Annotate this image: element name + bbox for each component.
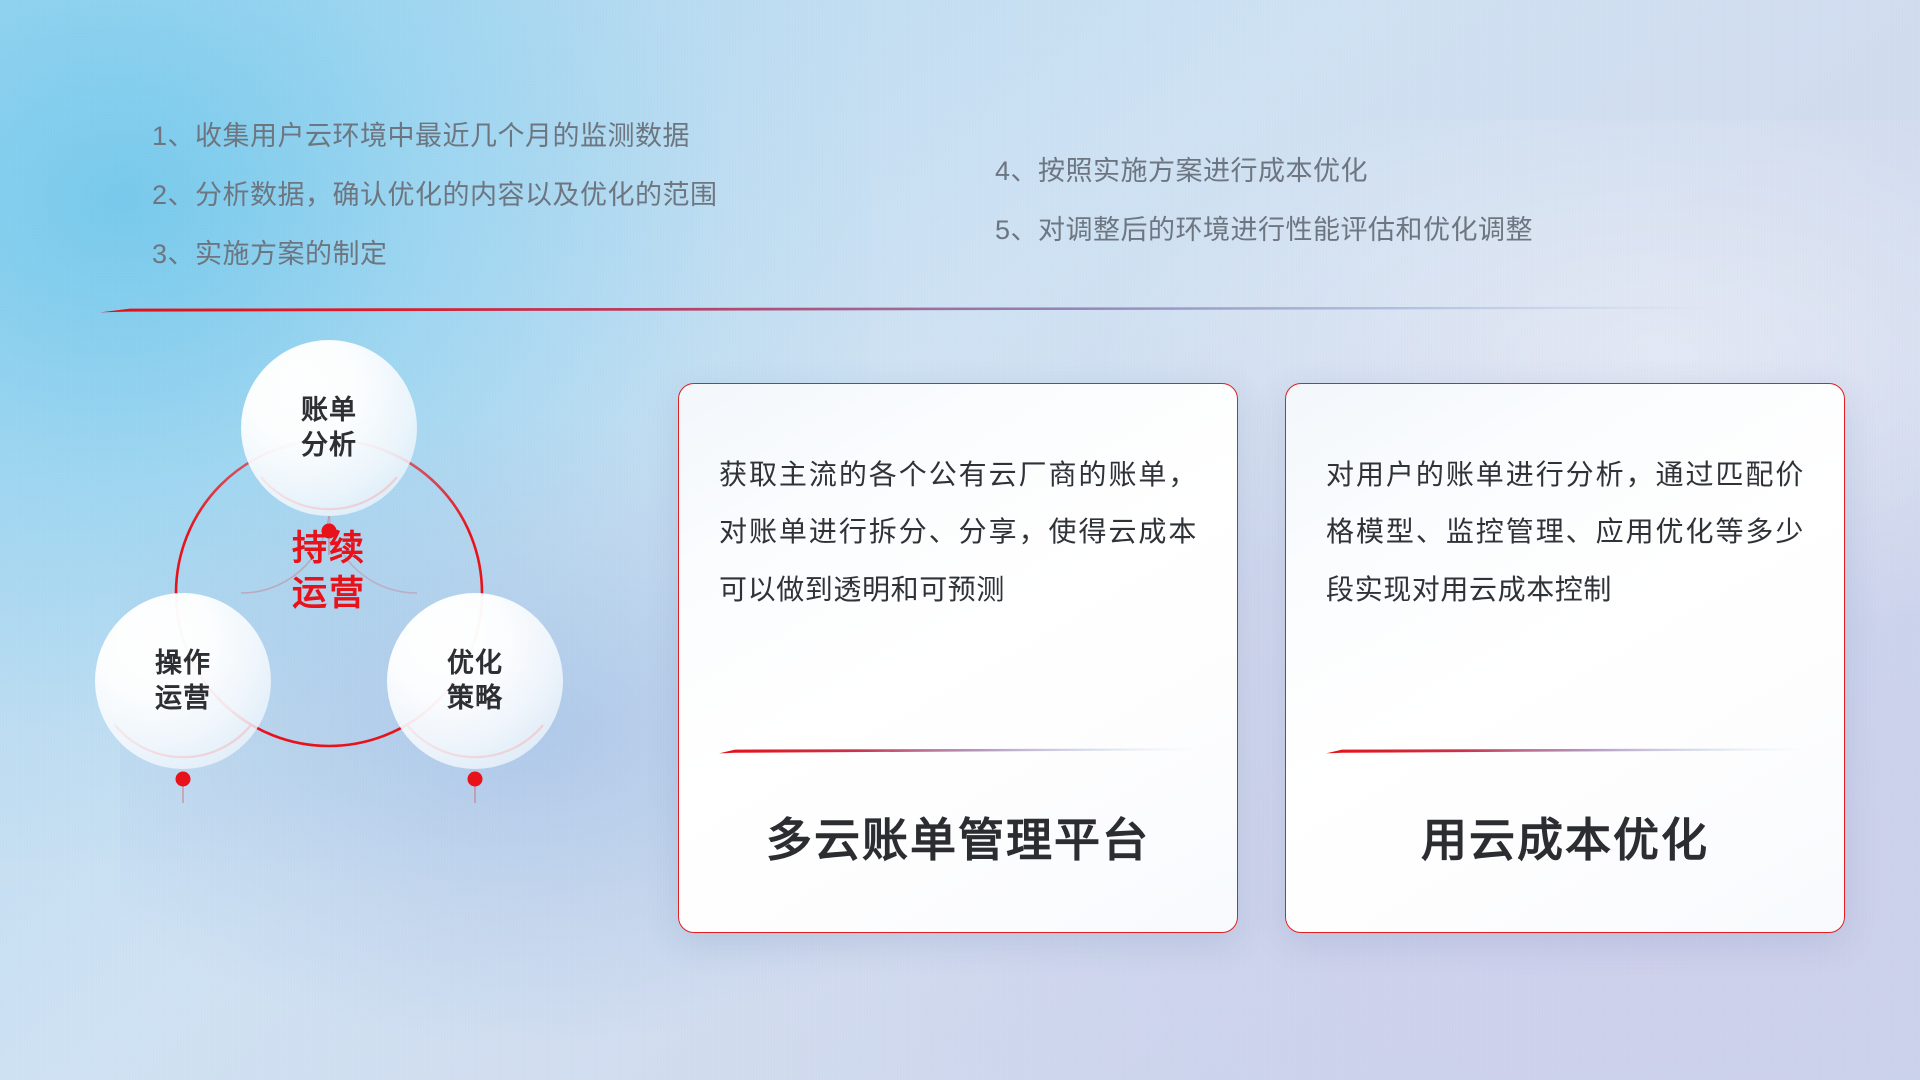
bubble-bill-analysis-line2: 分析 (301, 428, 357, 463)
step-item-5: 5、对调整后的环境进行性能评估和优化调整 (995, 217, 1533, 244)
diagram-center-label: 持续 运营 (233, 513, 425, 631)
bubble-optimization-strategy-line2: 策略 (447, 681, 503, 716)
step-item-4: 4、按照实施方案进行成本优化 (995, 158, 1533, 185)
card-cloud-cost-optimization-title: 用云成本优化 (1286, 804, 1844, 870)
card-cloud-cost-optimization[interactable]: 对用户的账单进行分析，通过匹配价格模型、监控管理、应用优化等多少段实现对用云成本… (1285, 383, 1845, 933)
node-dot-bottom-left (176, 772, 191, 787)
step-item-1: 1、收集用户云环境中最近几个月的监测数据 (152, 123, 718, 150)
step-item-2: 2、分析数据，确认优化的内容以及优化的范围 (152, 182, 718, 209)
step-item-3: 3、实施方案的制定 (152, 241, 718, 268)
bubble-operation-line2: 运营 (155, 681, 211, 716)
card-multicloud-billing-title: 多云账单管理平台 (679, 804, 1237, 870)
slide-content: 1、收集用户云环境中最近几个月的监测数据 2、分析数据，确认优化的内容以及优化的… (0, 0, 1920, 1080)
continuous-operation-diagram: 账单 分析 操作 运营 优化 策略 持续 运营 (95, 345, 635, 925)
diagram-center-label-line1: 持续 (292, 527, 366, 572)
header-divider (100, 304, 1720, 313)
card-multicloud-billing[interactable]: 获取主流的各个公有云厂商的账单，对账单进行拆分、分享，使得云成本可以做到透明和可… (678, 383, 1238, 933)
bubble-operation-line1: 操作 (155, 646, 211, 681)
steps-list-left: 1、收集用户云环境中最近几个月的监测数据 2、分析数据，确认优化的内容以及优化的… (152, 123, 718, 268)
bubble-bill-analysis-line1: 账单 (301, 393, 357, 428)
bubble-bill-analysis[interactable]: 账单 分析 (241, 340, 417, 516)
steps-list-right: 4、按照实施方案进行成本优化 5、对调整后的环境进行性能评估和优化调整 (995, 158, 1533, 244)
diagram-center-label-line2: 运营 (292, 572, 366, 617)
node-dot-bottom-right (468, 772, 483, 787)
card-cloud-cost-optimization-rule (1326, 747, 1808, 754)
card-multicloud-billing-rule (719, 747, 1201, 754)
card-multicloud-billing-body: 获取主流的各个公有云厂商的账单，对账单进行拆分、分享，使得云成本可以做到透明和可… (719, 446, 1197, 618)
card-cloud-cost-optimization-body: 对用户的账单进行分析，通过匹配价格模型、监控管理、应用优化等多少段实现对用云成本… (1326, 446, 1804, 618)
bubble-optimization-strategy-line1: 优化 (447, 646, 503, 681)
